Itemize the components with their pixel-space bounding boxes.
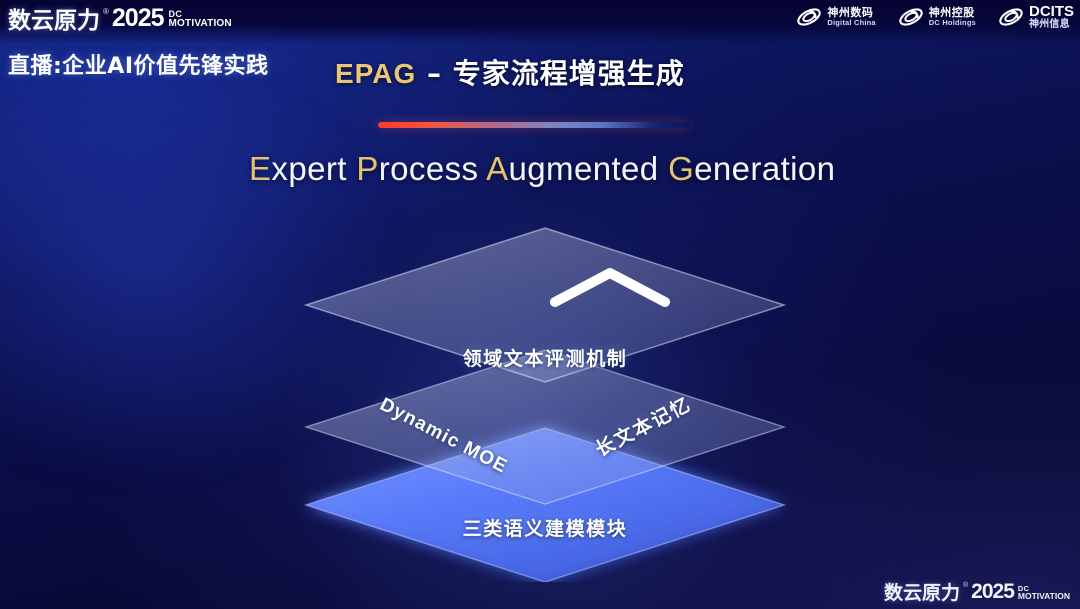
registered-mark: ® — [103, 7, 109, 16]
brand-name-en: DC Holdings — [929, 19, 976, 27]
subtitle-part: P — [356, 150, 378, 187]
live-stream-title: 直播:企业AI价值先锋实践 — [8, 48, 269, 80]
brand-dc-holdings: 神州控股 DC Holdings — [898, 4, 976, 30]
brand-digital-china: 神州数码 Digital China — [796, 4, 875, 30]
subtitle-part: A — [486, 150, 508, 187]
watermark-year: 2025 — [971, 580, 1014, 604]
event-logo-motivation: MOTIVATION — [169, 19, 232, 29]
subtitle-expansion: Expert Process Augmented Generation — [249, 150, 835, 188]
event-logo-cn: 数云原力 — [8, 1, 100, 35]
event-logo-year: 2025 — [112, 4, 164, 33]
footer-watermark-logo: 数云原力 ® 2025 DC MOTIVATION — [884, 578, 1070, 605]
watermark-cn: 数云原力 — [884, 578, 960, 605]
isometric-layer-diagram: 三类语义建模模块 Dynamic MOE 长文本记忆 — [290, 222, 800, 582]
swirl-icon — [998, 4, 1024, 30]
subtitle-part: ugmented — [509, 150, 669, 187]
event-logo-dc-motivation: DC MOTIVATION — [169, 8, 232, 29]
brand-name-en: Digital China — [827, 19, 875, 27]
title-divider — [378, 122, 690, 128]
slide-canvas: 数云原力 ® 2025 DC MOTIVATION 直播:企业AI价值先锋实践 … — [0, 0, 1080, 609]
sponsor-logo-row: 神州数码 Digital China 神州控股 DC Holdings — [796, 4, 1074, 30]
brand-dcits: DCITS 神州信息 — [998, 4, 1074, 30]
brand-name-cn: 神州信息 — [1029, 20, 1074, 31]
page-title-acronym: EPAG — [335, 58, 416, 89]
subtitle-part: eneration — [694, 150, 835, 187]
subtitle-part: rocess — [379, 150, 486, 187]
page-title-cn: – 专家流程增强生成 — [416, 57, 685, 90]
subtitle-part: E — [249, 150, 271, 187]
brand-name-en: DCITS — [1029, 4, 1074, 20]
page-title: EPAG – 专家流程增强生成 — [335, 52, 685, 92]
layer-top-label: 领域文本评测机制 — [463, 344, 628, 371]
watermark-dc-motivation: DC MOTIVATION — [1018, 583, 1070, 601]
swirl-icon — [796, 4, 822, 30]
watermark-motivation: MOTIVATION — [1018, 592, 1070, 601]
layer-top[interactable]: 领域文本评测机制 — [290, 222, 800, 582]
subtitle-part: G — [668, 150, 694, 187]
event-logo: 数云原力 ® 2025 DC MOTIVATION — [8, 3, 232, 33]
brand-dc-holdings-text: 神州控股 DC Holdings — [929, 7, 976, 26]
brand-dcits-text: DCITS 神州信息 — [1029, 4, 1074, 30]
brand-digital-china-text: 神州数码 Digital China — [827, 7, 875, 26]
registered-mark: ® — [963, 582, 968, 589]
swirl-icon — [898, 4, 924, 30]
subtitle-part: xpert — [271, 150, 356, 187]
